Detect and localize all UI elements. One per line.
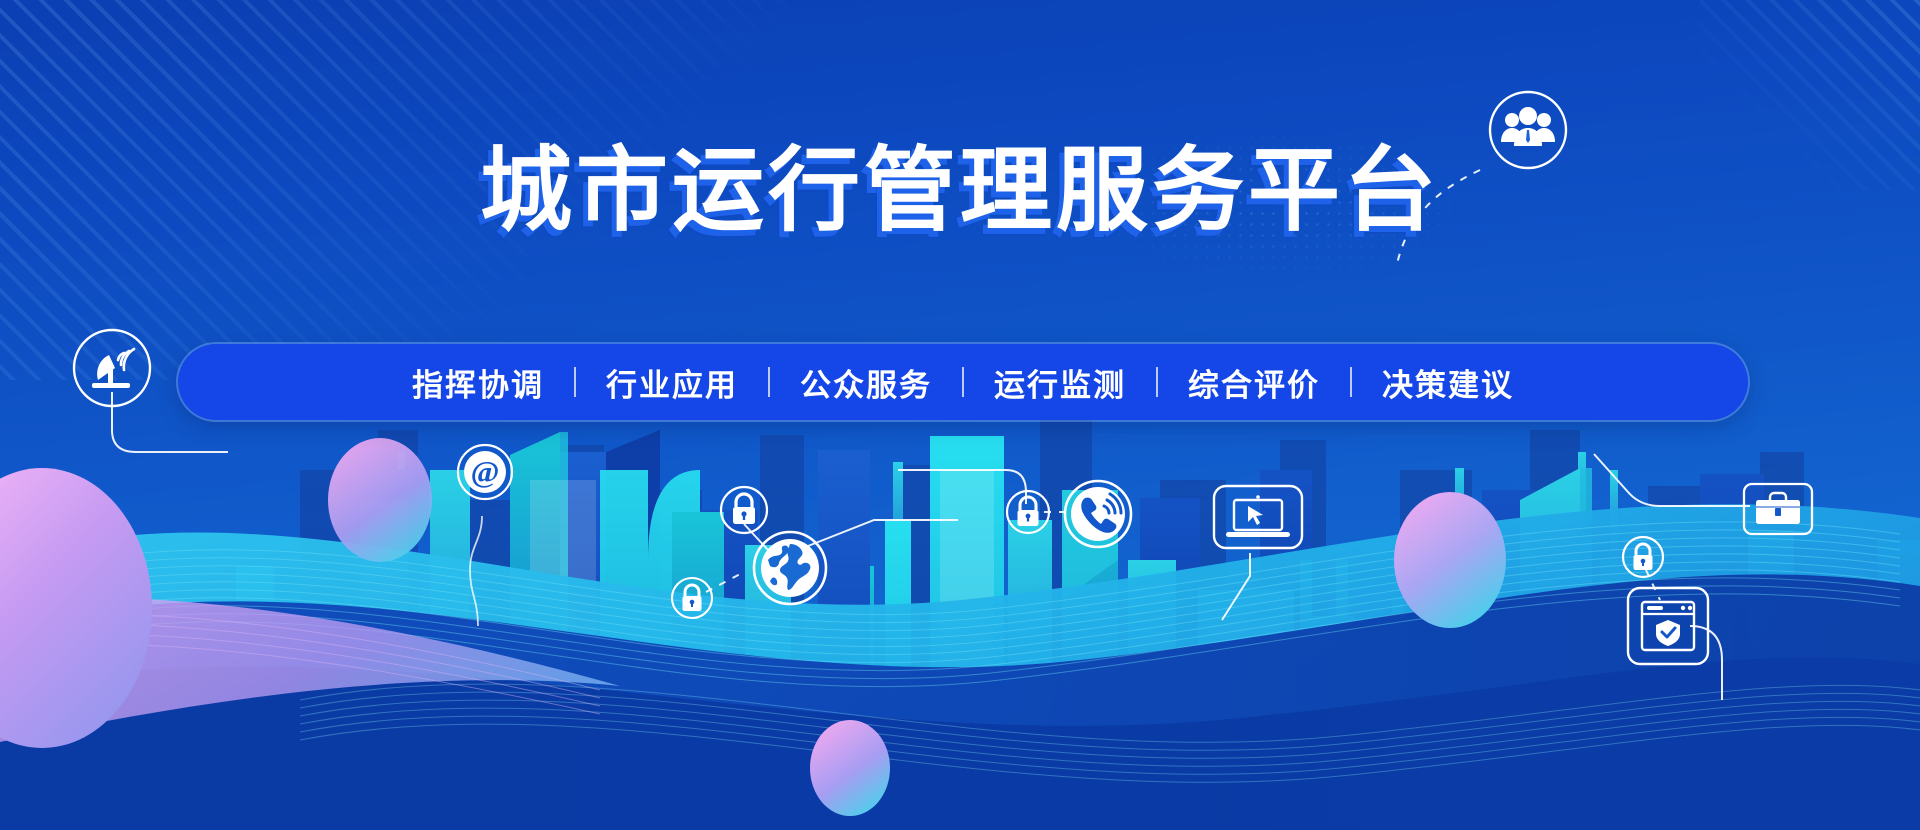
phone-call-icon[interactable] [1052, 468, 1144, 560]
nav-item-command-coordination[interactable]: 指挥协调 [382, 360, 574, 405]
nav-item-industry-application[interactable]: 行业应用 [576, 360, 768, 405]
briefcase-icon[interactable] [1738, 478, 1818, 542]
svg-text:@: @ [471, 454, 500, 489]
laptop-cursor-icon[interactable] [1208, 480, 1308, 560]
browser-shield-icon[interactable] [1622, 582, 1718, 674]
nav-item-operation-monitoring[interactable]: 运行监测 [964, 360, 1156, 405]
nav-item-decision-suggestion[interactable]: 决策建议 [1352, 360, 1544, 405]
nav-item-comprehensive-evaluation[interactable]: 综合评价 [1158, 360, 1350, 405]
lock-icon[interactable] [664, 570, 720, 626]
nav-item-public-service[interactable]: 公众服务 [770, 360, 962, 405]
city-platform-banner: 城市运行管理服务平台 指挥协调 行业应用 公众服务 运行监测 综合评价 决策建议 [0, 0, 1920, 830]
nav-items-container: 指挥协调 行业应用 公众服务 运行监测 综合评价 决策建议 [382, 360, 1544, 405]
main-navigation-bar: 指挥协调 行业应用 公众服务 运行监测 综合评价 决策建议 [178, 344, 1748, 420]
lock-icon[interactable] [1614, 528, 1672, 586]
satellite-dish-icon[interactable] [62, 318, 162, 418]
lock-icon[interactable] [998, 482, 1058, 542]
people-group-icon[interactable] [1478, 80, 1578, 180]
globe-icon[interactable] [742, 520, 838, 616]
at-sign-icon[interactable]: @ [450, 437, 520, 507]
